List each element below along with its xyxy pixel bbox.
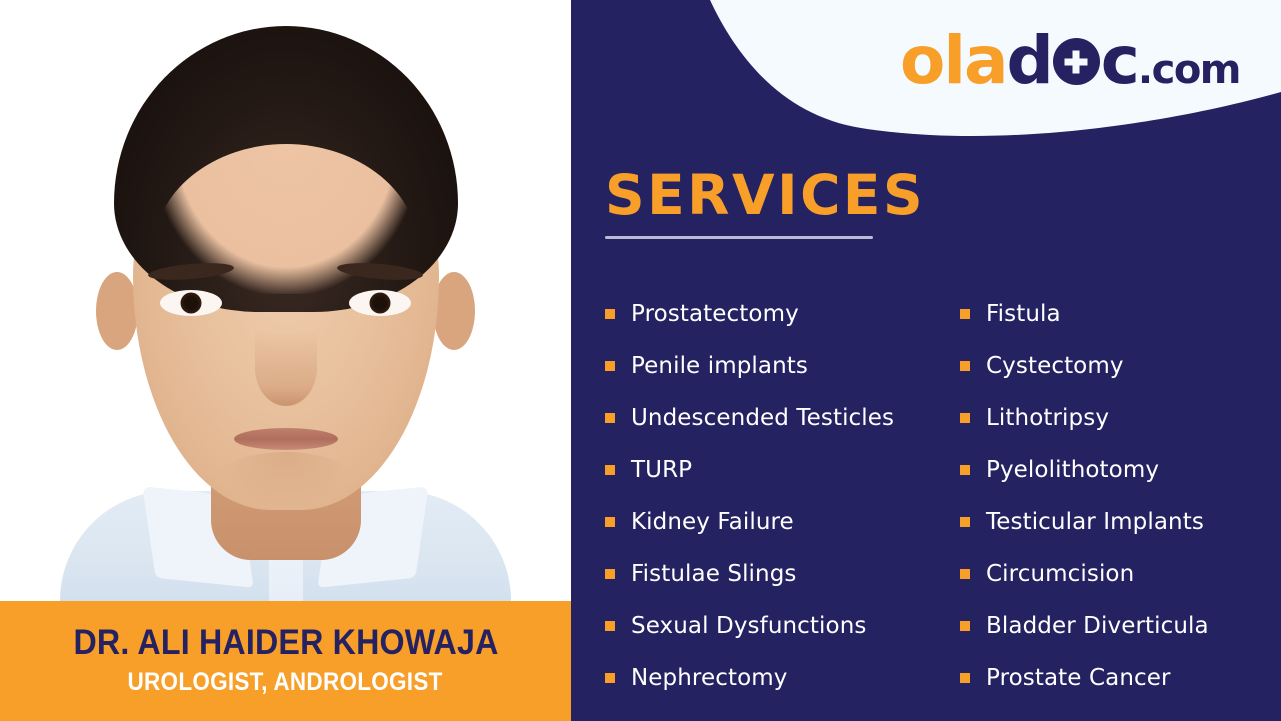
services-list: ProstatectomyPenile implantsUndescended … [571,288,1281,704]
square-bullet-icon [960,517,970,527]
logo-text-ola: ola [900,28,1007,94]
service-list-item[interactable]: Fistulae Slings [605,548,926,600]
service-label: Bladder Diverticula [986,600,1209,652]
square-bullet-icon [960,465,970,475]
service-list-item[interactable]: Circumcision [960,548,1281,600]
square-bullet-icon [605,361,615,371]
doctor-specialty: UROLOGIST, ANDROLOGIST [128,668,443,697]
service-label: Undescended Testicles [631,392,894,444]
square-bullet-icon [605,413,615,423]
square-bullet-icon [960,413,970,423]
service-label: Penile implants [631,340,808,392]
doctor-photo-panel: DR. ALI HAIDER KHOWAJA UROLOGIST, ANDROL… [0,0,571,721]
service-label: Circumcision [986,548,1134,600]
square-bullet-icon [605,517,615,527]
doctor-photo [0,0,571,601]
square-bullet-icon [605,465,615,475]
service-label: Lithotripsy [986,392,1109,444]
service-list-item[interactable]: Pyelolithotomy [960,444,1281,496]
service-list-item[interactable]: Kidney Failure [605,496,926,548]
service-label: Nephrectomy [631,652,788,704]
doctor-name: DR. ALI HAIDER KHOWAJA [73,625,498,662]
services-column-left: ProstatectomyPenile implantsUndescended … [571,288,926,704]
square-bullet-icon [960,569,970,579]
chin-shape [216,452,356,510]
nose-shape [255,330,317,406]
oladoc-logo[interactable]: oladc.com [900,28,1240,94]
page-title: SERVICES [605,168,925,223]
logo-text-c: c [1101,28,1138,94]
logo-text-tld: .com [1138,50,1240,90]
services-poster: DR. ALI HAIDER KHOWAJA UROLOGIST, ANDROL… [0,0,1281,721]
service-list-item[interactable]: Bladder Diverticula [960,600,1281,652]
ear-right-shape [433,272,475,350]
service-list-item[interactable]: Testicular Implants [960,496,1281,548]
square-bullet-icon [960,361,970,371]
eye-left-shape [160,290,222,316]
mouth-shape [234,428,338,450]
service-label: Testicular Implants [986,496,1204,548]
service-label: TURP [631,444,692,496]
eye-right-shape [349,290,411,316]
service-list-item[interactable]: Sexual Dysfunctions [605,600,926,652]
doctor-name-banner: DR. ALI HAIDER KHOWAJA UROLOGIST, ANDROL… [0,601,571,721]
service-list-item[interactable]: Prostatectomy [605,288,926,340]
square-bullet-icon [605,569,615,579]
services-panel: oladc.com SERVICES ProstatectomyPenile i… [571,0,1281,721]
services-column-right: FistulaCystectomyLithotripsyPyelolithoto… [926,288,1281,704]
service-label: Fistula [986,288,1061,340]
service-label: Prostate Cancer [986,652,1171,704]
square-bullet-icon [960,673,970,683]
service-label: Prostatectomy [631,288,799,340]
square-bullet-icon [605,621,615,631]
square-bullet-icon [960,621,970,631]
service-label: Fistulae Slings [631,548,797,600]
service-list-item[interactable]: TURP [605,444,926,496]
service-label: Kidney Failure [631,496,794,548]
service-label: Sexual Dysfunctions [631,600,866,652]
square-bullet-icon [605,673,615,683]
portrait-illustration [0,0,571,601]
service-list-item[interactable]: Nephrectomy [605,652,926,704]
service-label: Cystectomy [986,340,1124,392]
service-list-item[interactable]: Fistula [960,288,1281,340]
service-list-item[interactable]: Penile implants [605,340,926,392]
square-bullet-icon [605,309,615,319]
title-underline [605,236,873,239]
service-list-item[interactable]: Cystectomy [960,340,1281,392]
service-list-item[interactable]: Undescended Testicles [605,392,926,444]
logo-text-d: d [1007,28,1052,94]
service-label: Pyelolithotomy [986,444,1159,496]
square-bullet-icon [960,309,970,319]
service-list-item[interactable]: Lithotripsy [960,392,1281,444]
medical-cross-circle-icon [1053,38,1100,85]
service-list-item[interactable]: Prostate Cancer [960,652,1281,704]
